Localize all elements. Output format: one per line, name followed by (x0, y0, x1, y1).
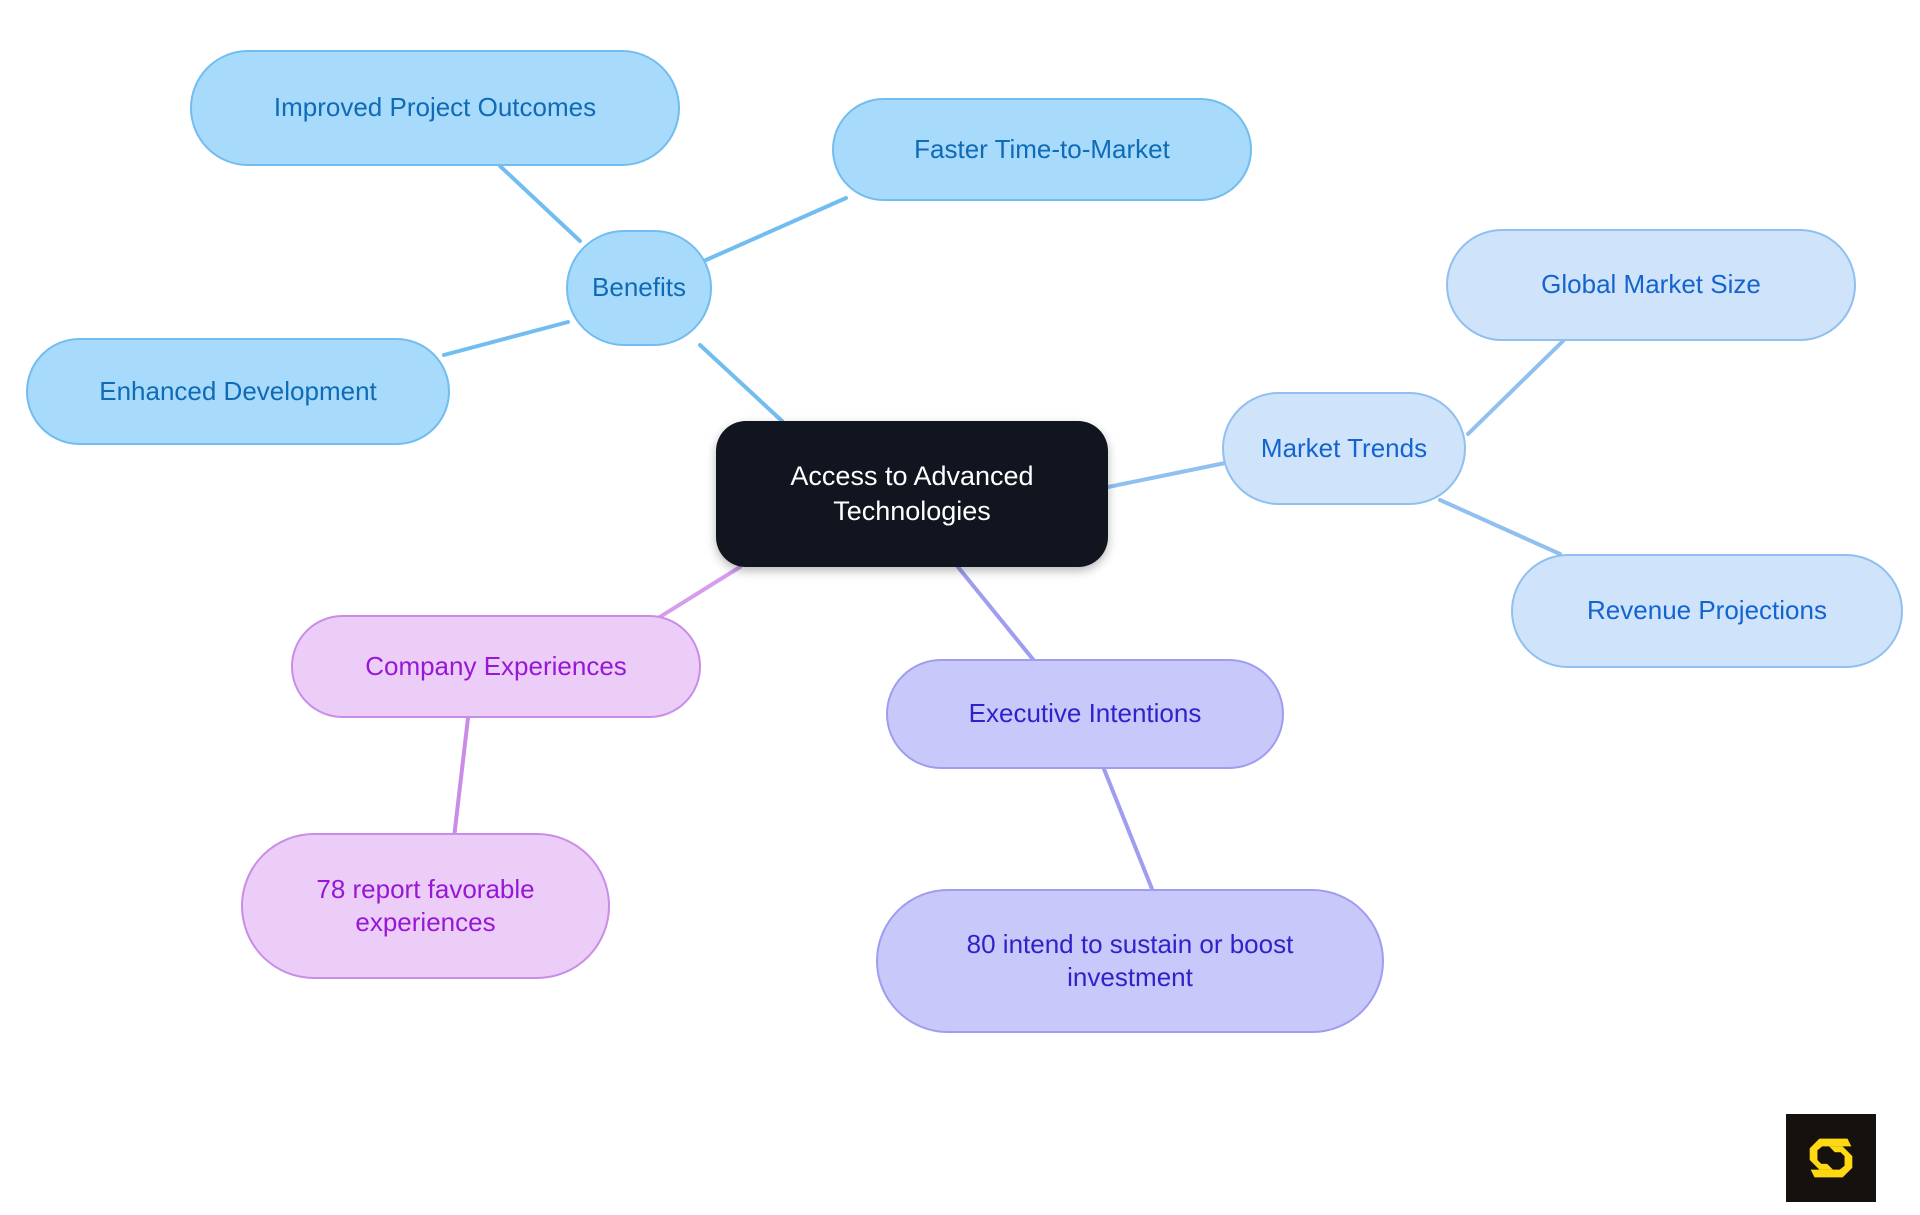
edge-executive-investment (1104, 769, 1152, 889)
edge-market-revenue (1440, 500, 1560, 554)
edge-benefits-faster (706, 198, 846, 260)
edge-root-market-trends (1108, 462, 1230, 487)
edge-root-benefits (700, 345, 782, 421)
edge-benefits-improved (500, 166, 580, 241)
mindmap-node-enhanced-development[interactable]: Enhanced Development (26, 338, 450, 445)
mindmap-node-favorable-experiences[interactable]: 78 report favorable experiences (241, 833, 610, 979)
mindmap-node-global-market-size[interactable]: Global Market Size (1446, 229, 1856, 341)
mindmap-node-revenue-projections[interactable]: Revenue Projections (1511, 554, 1903, 668)
mindmap-node-benefits[interactable]: Benefits (566, 230, 712, 346)
mindmap-node-company-experiences[interactable]: Company Experiences (291, 615, 701, 718)
mindmap-node-improved-project-outcomes[interactable]: Improved Project Outcomes (190, 50, 680, 166)
mindmap-node-faster-time-to-market[interactable]: Faster Time-to-Market (832, 98, 1252, 201)
brand-logo (1786, 1114, 1876, 1202)
logo-s-mark-icon (1800, 1127, 1862, 1189)
edge-benefits-enhanced (444, 322, 568, 355)
mindmap-node-sustain-or-boost-investment[interactable]: 80 intend to sustain or boost investment (876, 889, 1384, 1033)
mindmap-node-root[interactable]: Access to Advanced Technologies (716, 421, 1108, 567)
edge-market-global (1468, 340, 1564, 434)
mindmap-canvas: Access to Advanced TechnologiesBenefitsI… (0, 0, 1920, 1215)
mindmap-node-executive-intentions[interactable]: Executive Intentions (886, 659, 1284, 769)
mindmap-node-market-trends[interactable]: Market Trends (1222, 392, 1466, 505)
